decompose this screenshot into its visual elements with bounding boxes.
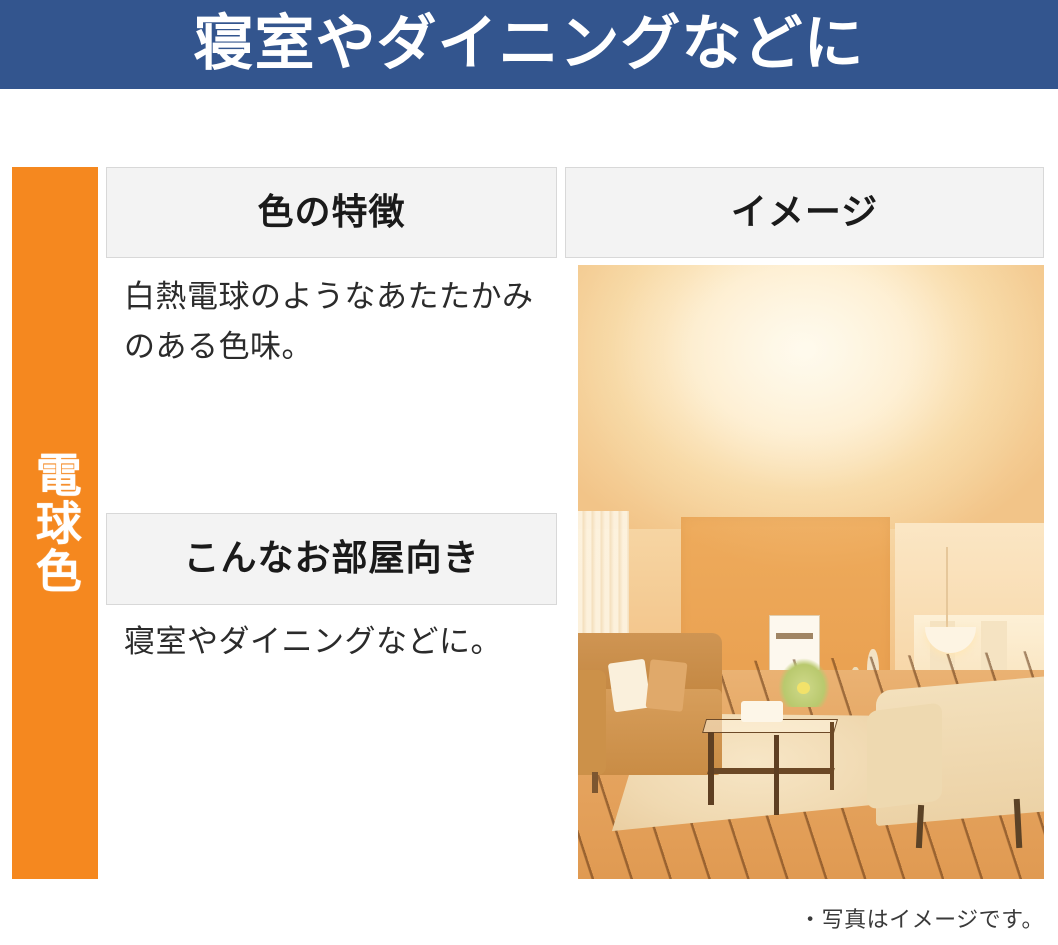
- room-photo: [578, 265, 1044, 879]
- photo-ceiling: [578, 265, 1044, 547]
- cell-body-color-feature-text: 白熱電球のようなあたたかみのある色味。: [124, 272, 539, 372]
- cell-header-color-feature-text: 色の特徴: [257, 195, 405, 231]
- photo-coffee-table-leg-3: [830, 722, 835, 790]
- cell-header-image-text: イメージ: [731, 195, 878, 231]
- color-feature-table: 電球色 色の特徴 白熱電球のようなあたたかみのある色味。 こんなお部屋向き 寝室…: [12, 167, 1044, 879]
- cell-header-color-feature: 色の特徴: [106, 167, 557, 258]
- image-column: イメージ: [565, 167, 1044, 879]
- cell-body-room-type: 寝室やダイニングなどに。: [106, 617, 557, 767]
- photo-flower-vase: [778, 658, 829, 707]
- photo-disclaimer-note: ・写真はイメージです。: [799, 902, 1044, 934]
- row-label-text: 電球色: [23, 451, 86, 595]
- banner-title: 寝室やダイニングなどに: [194, 14, 865, 74]
- photo-coffee-table-leg-2: [774, 735, 779, 815]
- cell-header-room-type: こんなお部屋向き: [106, 513, 557, 605]
- photo-coffee-table-leg-1: [708, 732, 713, 806]
- room-photo-scene: [578, 265, 1044, 879]
- photo-sofa-leg: [592, 772, 598, 793]
- photo-pendant-cord: [946, 547, 948, 633]
- row-label-bulb-color: 電球色: [12, 167, 98, 879]
- cell-body-color-feature: 白熱電球のようなあたたかみのある色味。: [106, 272, 557, 502]
- photo-armchair-arm: [867, 703, 942, 810]
- photo-coffee-table-bar: [708, 768, 835, 774]
- photo-cushion-orange: [645, 659, 687, 712]
- photo-cups: [741, 701, 783, 722]
- feature-column: 色の特徴 白熱電球のようなあたたかみのある色味。 こんなお部屋向き 寝室やダイニ…: [98, 167, 565, 879]
- cell-body-room-type-text: 寝室やダイニングなどに。: [124, 617, 502, 667]
- photo-cushion-light: [607, 659, 651, 713]
- cell-header-image: イメージ: [565, 167, 1044, 258]
- cell-header-room-type-text: こんなお部屋向き: [183, 541, 479, 577]
- photo-sofa-arm: [578, 670, 606, 774]
- header-banner: 寝室やダイニングなどに: [0, 0, 1058, 89]
